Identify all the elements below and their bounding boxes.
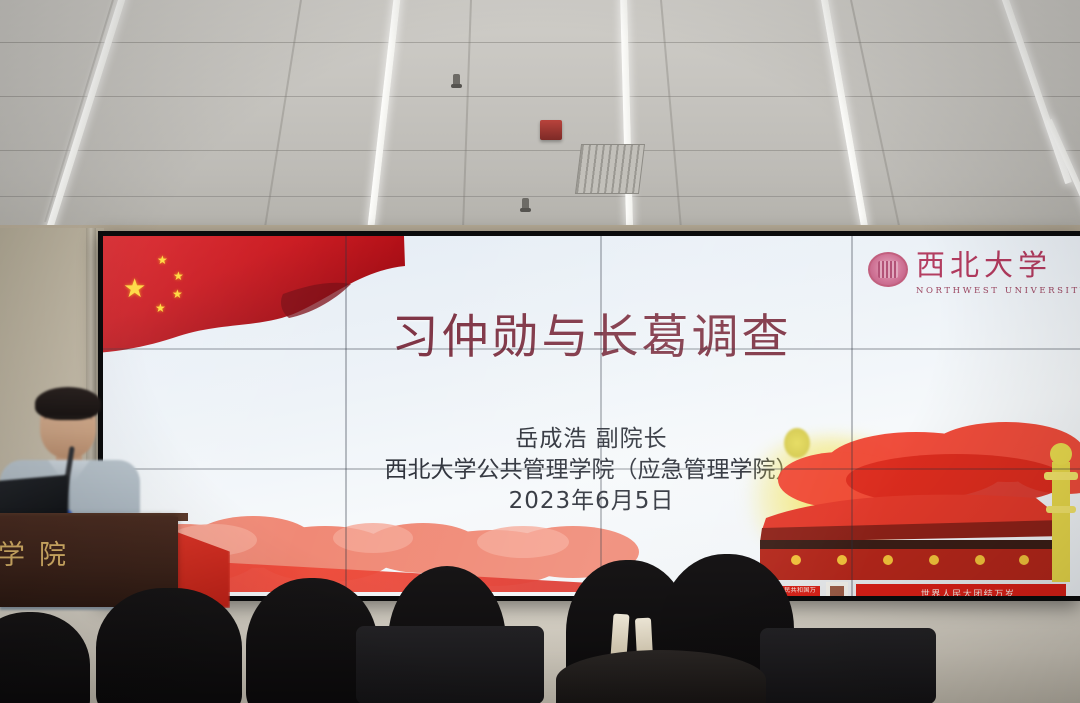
audience-head	[556, 650, 766, 703]
ceiling-light-strip	[45, 0, 127, 232]
ceiling	[0, 0, 1080, 232]
air-vent	[575, 144, 645, 194]
speaker-glasses	[44, 416, 92, 428]
ceiling-light-strip	[366, 0, 401, 232]
university-name-en: NORTHWEST UNIVERSITY	[916, 286, 1080, 296]
sprinkler-head-icon	[453, 74, 460, 86]
slide-title: 习仲勋与长葛调查	[103, 298, 1080, 367]
tiananmen-graphic: 世界人民大团结万岁 中华人民共和国万岁	[756, 410, 1080, 596]
podium-label: 学院	[0, 533, 158, 572]
video-wall-seam-vertical	[851, 236, 853, 596]
university-seal-icon	[868, 252, 908, 287]
tiananmen-banner-right: 世界人民大团结万岁	[875, 585, 1061, 596]
video-wall-seam-vertical	[600, 236, 602, 596]
video-wall-seam-horizontal	[103, 348, 1080, 350]
university-logo: 西北大学 NORTHWEST UNIVERSITY	[868, 242, 1080, 296]
ceiling-light-strip	[820, 0, 870, 232]
video-wall-seam-horizontal	[103, 468, 1080, 470]
ceiling-light-strip	[620, 0, 634, 232]
flag-star-small: ★	[157, 254, 168, 266]
sprinkler-head-icon	[522, 198, 529, 210]
smoke-detector-icon	[540, 120, 562, 140]
lecture-hall-photo: ★ ★ ★ ★ ★ 西北大学 NORTHWEST UNIVERSITY 习仲勋与…	[0, 0, 1080, 703]
audience-chair	[356, 626, 544, 703]
audience-chair	[760, 628, 936, 703]
video-wall-seam-vertical	[345, 236, 347, 596]
flag-star-small: ★	[173, 270, 184, 282]
university-name-cn: 西北大学	[916, 242, 1080, 284]
presentation-slide: ★ ★ ★ ★ ★ 西北大学 NORTHWEST UNIVERSITY 习仲勋与…	[103, 236, 1080, 596]
audience-head	[96, 588, 242, 703]
gold-orb	[784, 428, 810, 458]
